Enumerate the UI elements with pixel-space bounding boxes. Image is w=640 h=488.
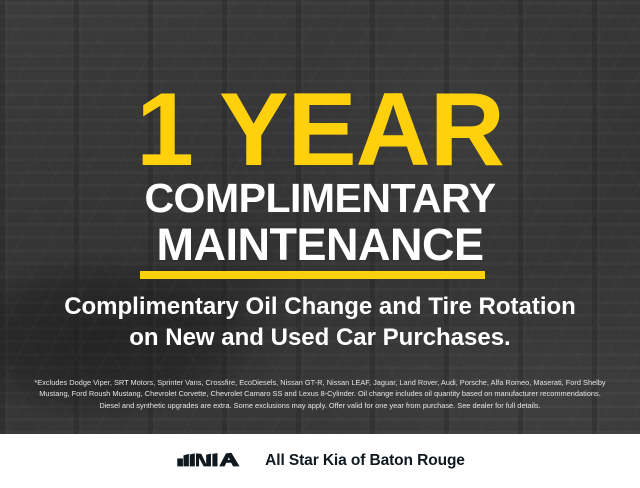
footer-bar: All Star Kia of Baton Rouge bbox=[0, 434, 640, 488]
yellow-divider-rule bbox=[140, 271, 485, 279]
disclaimer-line-3: Diesel and synthetic upgrades are extra.… bbox=[14, 400, 626, 411]
disclaimer-line-2: Mustang, Ford Roush Mustang, Chevrolet C… bbox=[14, 388, 626, 399]
subheadline-line-2: on New and Used Car Purchases. bbox=[0, 323, 640, 354]
hero-content: 1 YEAR COMPLIMENTARY MAINTENANCE Complim… bbox=[0, 0, 640, 434]
disclaimer-text: *Excludes Dodge Viper, SRT Motors, Sprin… bbox=[14, 377, 626, 411]
maintenance-offer-banner: 1 YEAR COMPLIMENTARY MAINTENANCE Complim… bbox=[0, 0, 640, 488]
footer-brand-lockup: All Star Kia of Baton Rouge bbox=[175, 452, 465, 470]
headline-maintenance: MAINTENANCE bbox=[0, 222, 640, 267]
kia-logo-icon bbox=[175, 452, 243, 470]
headline-year: 1 YEAR bbox=[0, 78, 640, 182]
subheadline-line-1: Complimentary Oil Change and Tire Rotati… bbox=[0, 292, 640, 323]
subheadline: Complimentary Oil Change and Tire Rotati… bbox=[0, 292, 640, 353]
hero-section: 1 YEAR COMPLIMENTARY MAINTENANCE Complim… bbox=[0, 0, 640, 434]
disclaimer-line-1: *Excludes Dodge Viper, SRT Motors, Sprin… bbox=[14, 377, 626, 388]
headline-complimentary: COMPLIMENTARY bbox=[0, 178, 640, 219]
dealer-name: All Star Kia of Baton Rouge bbox=[265, 452, 465, 470]
